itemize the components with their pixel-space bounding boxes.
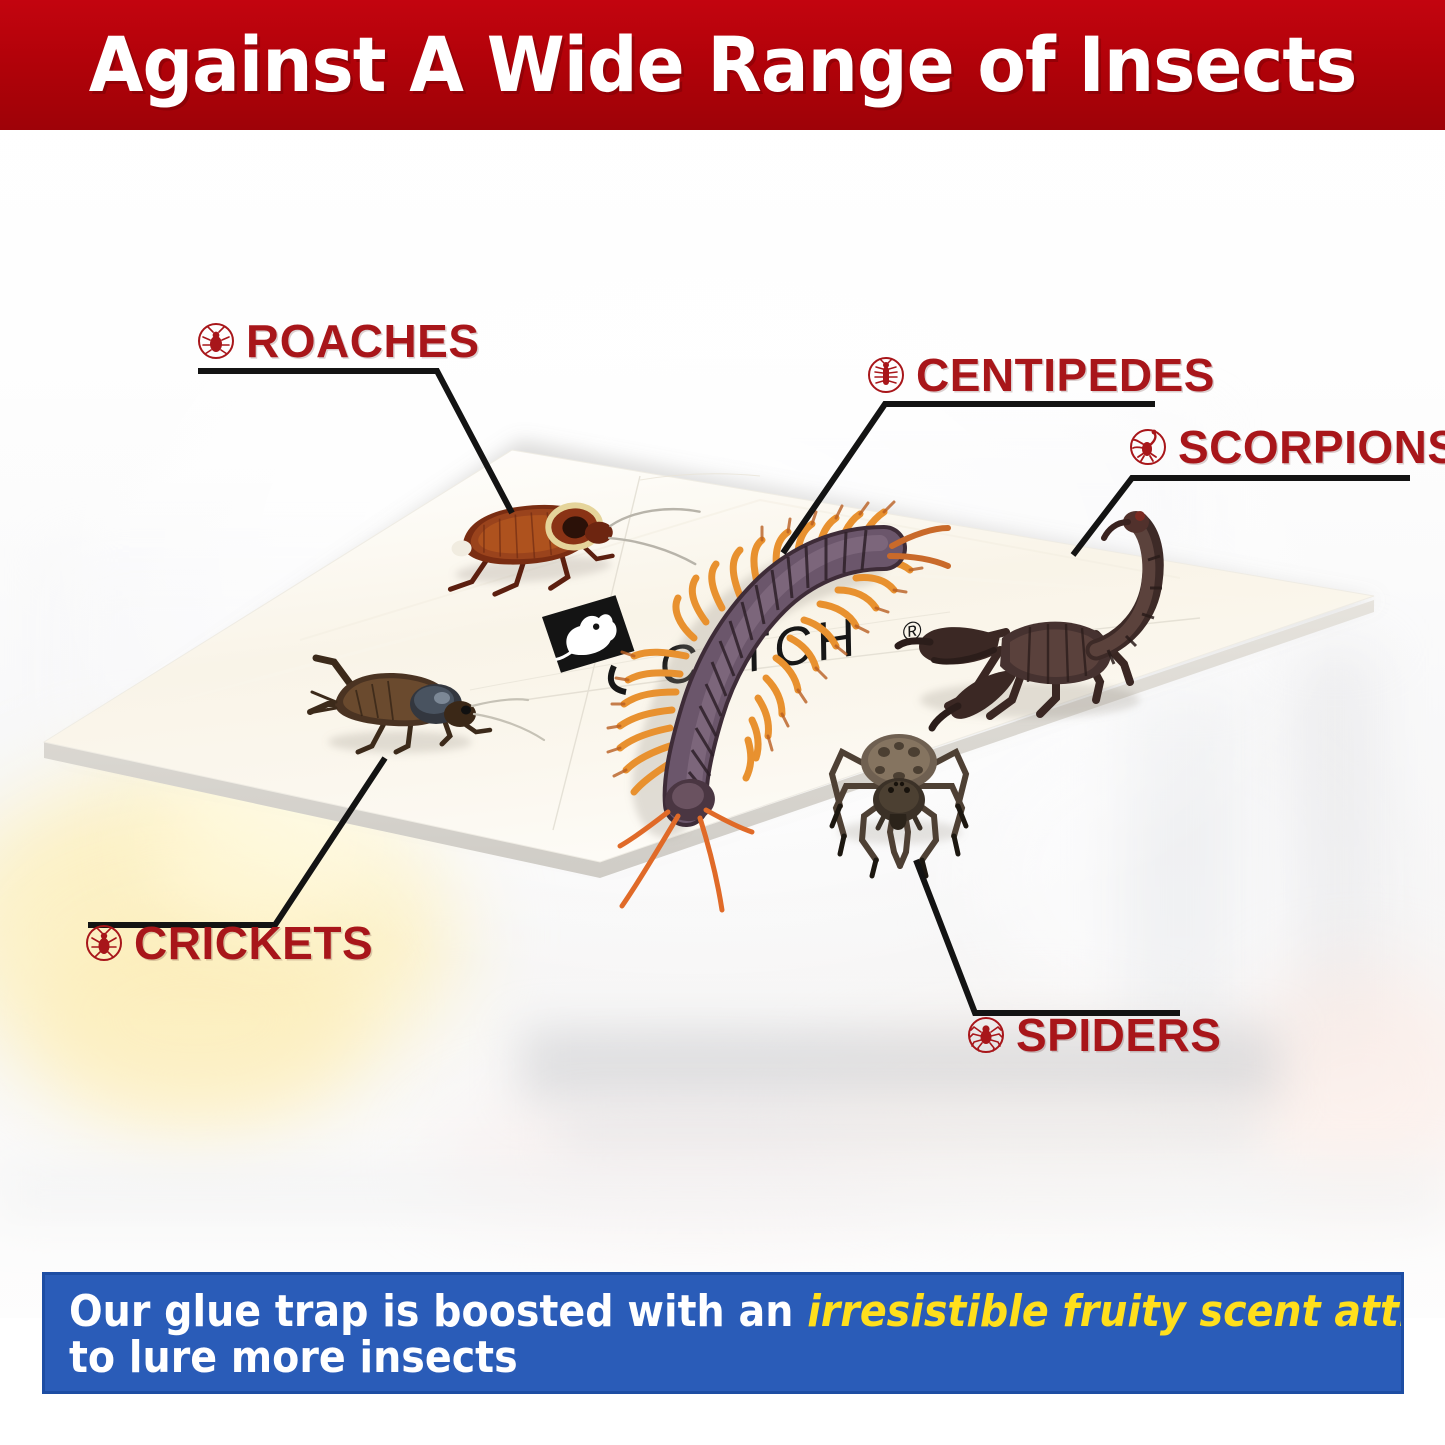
callout-roaches[interactable]: ROACHES: [196, 318, 480, 364]
callout-label-scorpions: SCORPIONS: [1178, 424, 1445, 470]
page-title: Against A Wide Range of Insects: [89, 27, 1357, 103]
glue-trap-product: CATCH ®: [0, 0, 1445, 1445]
footer-text-plain: Our glue trap is boosted with an: [69, 1286, 807, 1337]
footer-line-2: to lure more insects: [69, 1335, 1248, 1381]
spider-icon: [966, 1015, 1006, 1055]
callout-label-crickets: CRICKETS: [134, 920, 373, 966]
cricket-icon: [84, 923, 124, 963]
footer-text-highlight: irresistible fruity scent attractant: [807, 1286, 1404, 1337]
centipede-icon: [866, 355, 906, 395]
footer-line-1: Our glue trap is boosted with an irresis…: [69, 1289, 1248, 1335]
pest-spider: [832, 734, 966, 876]
callout-centipedes[interactable]: CENTIPEDES: [866, 352, 1215, 398]
scorpion-icon: [1128, 427, 1168, 467]
infographic-canvas: CATCH ®: [0, 0, 1445, 1445]
callout-label-centipedes: CENTIPEDES: [916, 352, 1215, 398]
callout-crickets[interactable]: CRICKETS: [84, 920, 373, 966]
header-banner: Against A Wide Range of Insects: [0, 0, 1445, 130]
callout-label-roaches: ROACHES: [246, 318, 480, 364]
callout-label-spiders: SPIDERS: [1016, 1012, 1221, 1058]
callout-spiders[interactable]: SPIDERS: [966, 1012, 1221, 1058]
callout-scorpions[interactable]: SCORPIONS: [1128, 424, 1445, 470]
footer-banner: Our glue trap is boosted with an irresis…: [42, 1272, 1404, 1394]
roach-icon: [196, 321, 236, 361]
glue-trap-board: CATCH ®: [0, 0, 1445, 1445]
